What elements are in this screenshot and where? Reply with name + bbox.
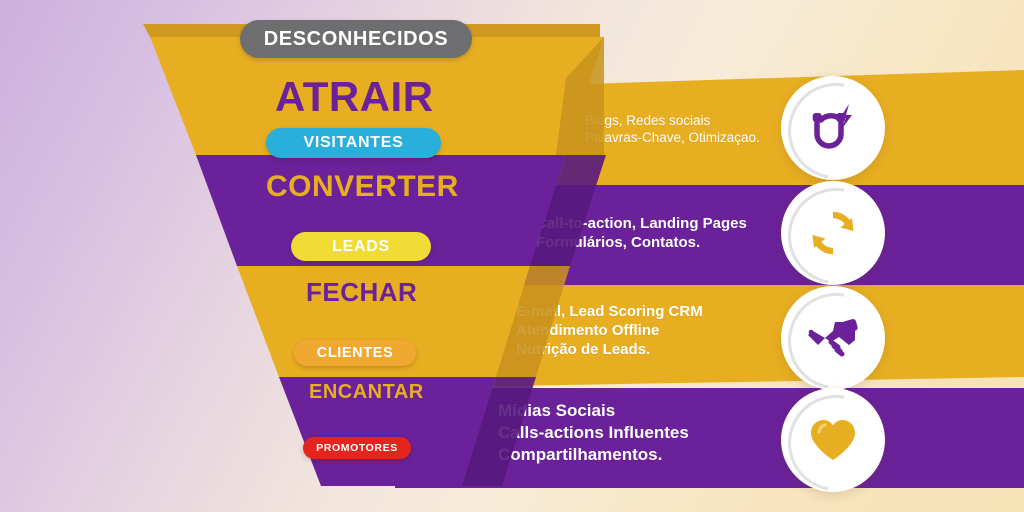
icon-bubble-converter[interactable]: [781, 181, 885, 285]
audience-badge-promotores-label: PROMOTORES: [316, 442, 398, 454]
refresh-cycle-icon: [807, 207, 859, 259]
magnet-icon: [805, 100, 861, 156]
audience-badge-desconhecidos-label: DESCONHECIDOS: [264, 28, 449, 51]
audience-badge-visitantes-label: VISITANTES: [303, 134, 403, 152]
audience-badge-visitantes[interactable]: VISITANTES: [266, 128, 441, 158]
info-panel-fechar-text: E-mail, Lead Scoring CRM Atendimento Off…: [516, 302, 766, 360]
audience-badge-leads[interactable]: LEADS: [291, 232, 431, 261]
icon-bubble-fechar[interactable]: [781, 286, 885, 390]
icon-bubble-atrair[interactable]: [781, 76, 885, 180]
audience-badge-desconhecidos[interactable]: DESCONHECIDOS: [240, 20, 472, 58]
handshake-icon: [805, 312, 861, 364]
heart-icon: [807, 416, 859, 464]
funnel-stage-label-converter: CONVERTER: [266, 170, 459, 204]
audience-badge-promotores[interactable]: PROMOTORES: [303, 437, 411, 459]
funnel-stage-label-fechar: FECHAR: [306, 277, 417, 308]
info-panel-atrair-text: Blogs, Redes sociais Palavras-Chave, Oti…: [585, 112, 800, 147]
audience-badge-clientes-label: CLIENTES: [317, 345, 394, 361]
audience-badge-clientes[interactable]: CLIENTES: [294, 340, 416, 366]
info-panel-encantar-text: Mídias Sociais Calls-actions Influentes …: [498, 400, 788, 465]
info-panel-converter-text: Call-to-action, Landing Pages Formulário…: [536, 214, 776, 252]
funnel-stage-label-encantar: ENCANTAR: [309, 381, 424, 404]
infographic-canvas: Blogs, Redes sociais Palavras-Chave, Oti…: [0, 0, 1024, 512]
audience-badge-leads-label: LEADS: [332, 238, 390, 256]
icon-bubble-encantar[interactable]: [781, 388, 885, 492]
funnel-stage-label-atrair: ATRAIR: [275, 73, 434, 121]
